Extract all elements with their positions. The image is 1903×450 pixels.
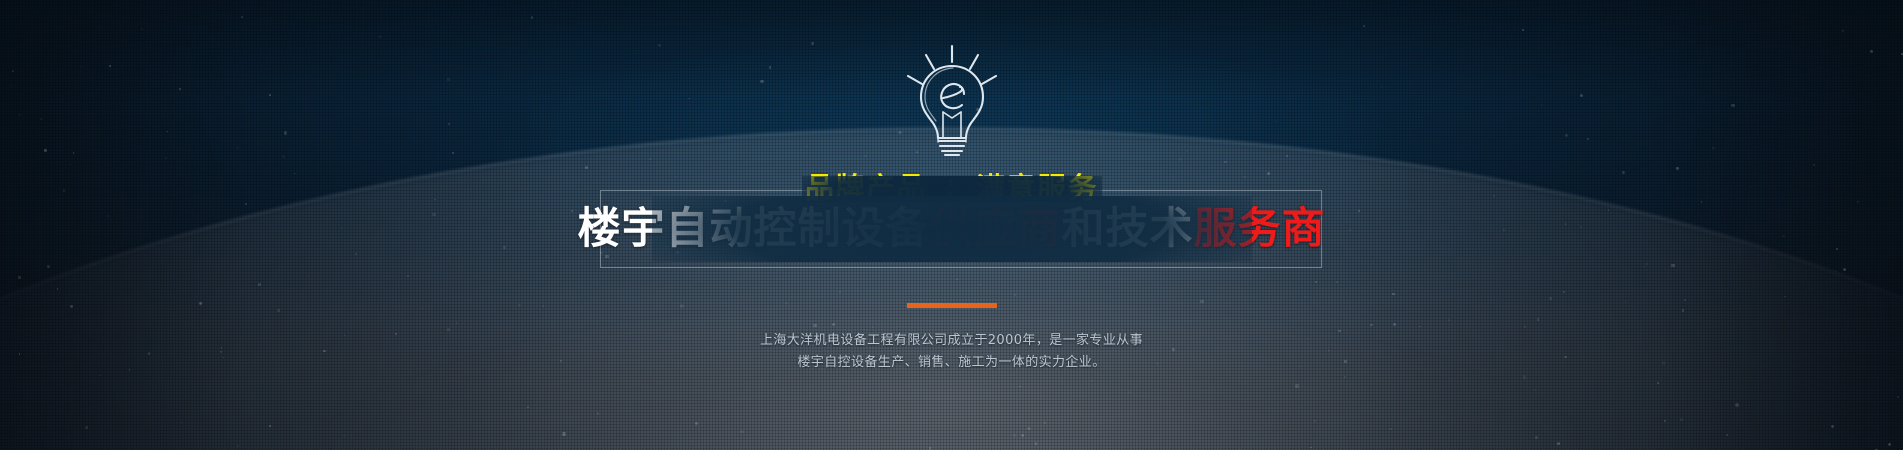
description-line-2: 楼宇自控设备生产、销售、施工为一体的实力企业。	[0, 352, 1903, 374]
orange-divider	[907, 303, 997, 308]
lightbulb-icon	[892, 42, 1012, 160]
hero-banner: 品牌产品 + 满意服务 楼宇自动控制设备供应商和技术服务商 上海大洋机电设备工程…	[0, 0, 1903, 450]
company-description: 上海大洋机电设备工程有限公司成立于2000年，是一家专业从事 楼宇自控设备生产、…	[0, 330, 1903, 374]
headline-backdrop	[652, 196, 1252, 262]
description-line-1: 上海大洋机电设备工程有限公司成立于2000年，是一家专业从事	[0, 330, 1903, 352]
